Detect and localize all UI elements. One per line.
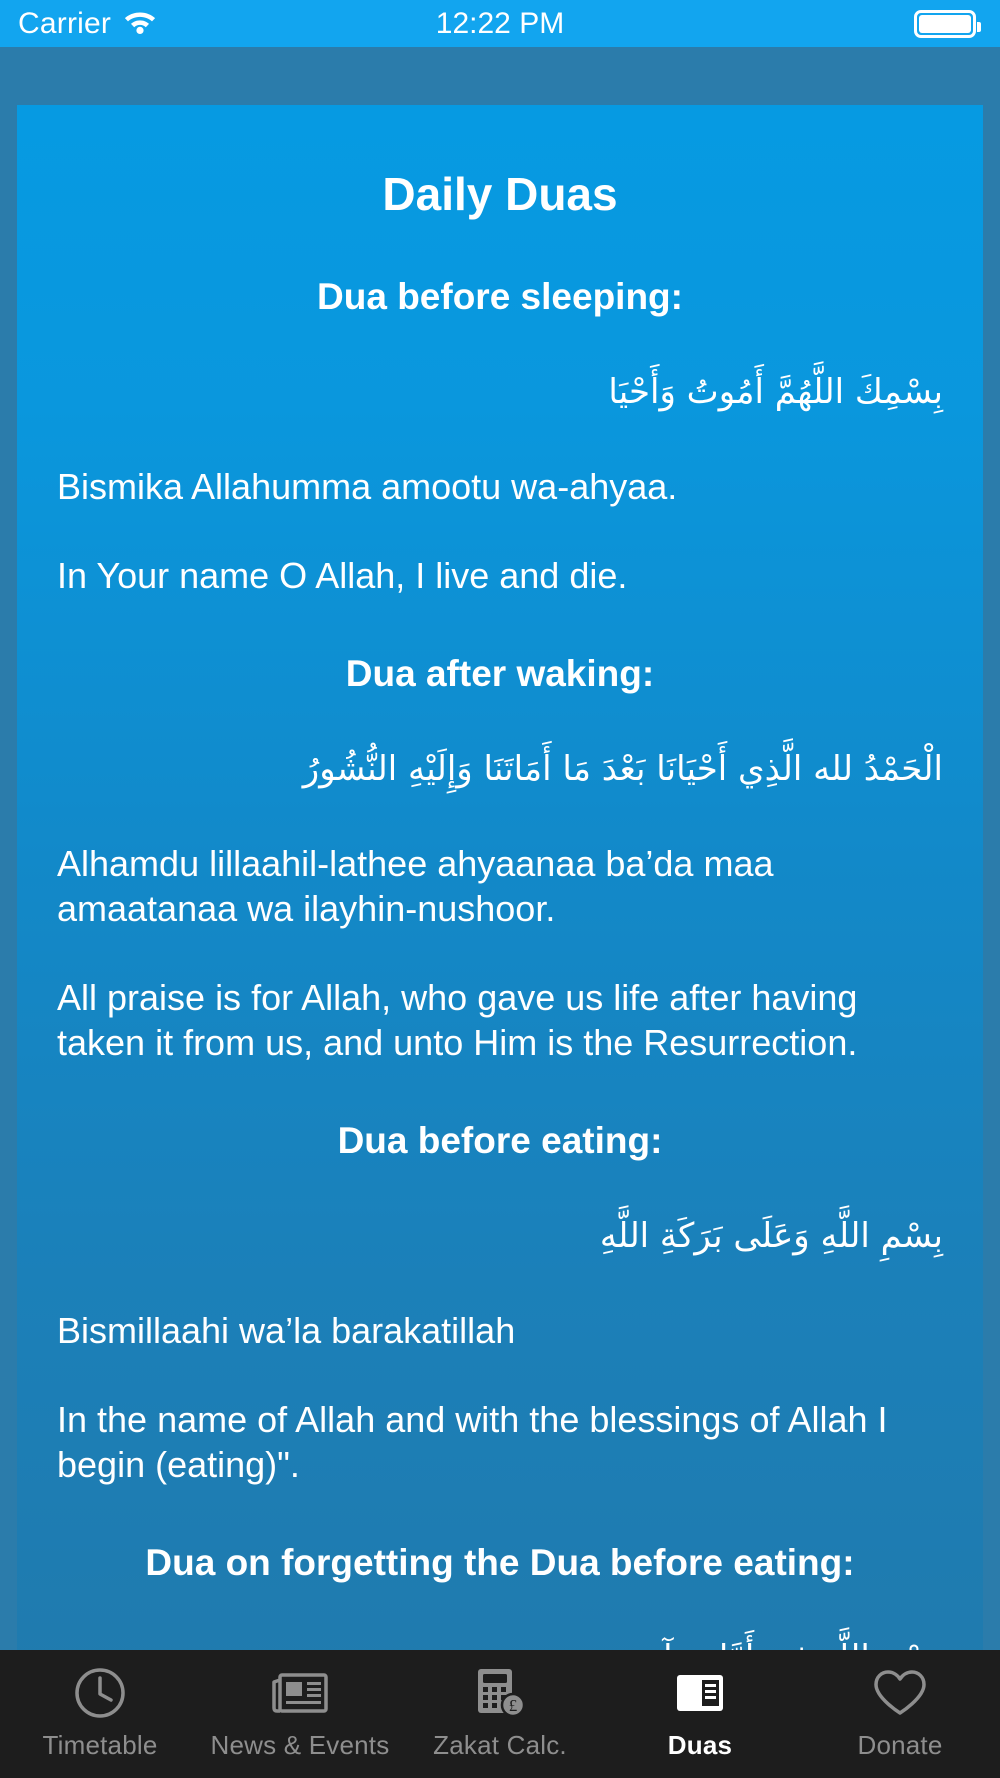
status-bar-right bbox=[682, 10, 982, 38]
wifi-icon bbox=[123, 7, 157, 40]
tab-bar: Timetable News & Events bbox=[0, 1650, 1000, 1778]
app-window: Carrier 12:22 PM Daily Duas Dua before s… bbox=[0, 0, 1000, 1778]
dua-transliteration: Bismillaahi wa’la barakatillah bbox=[57, 1308, 943, 1353]
dua-arabic: بِسْمِكَ اللَّهُمَّ أَمُوتُ وَأَحْيَا bbox=[57, 364, 943, 420]
clock-icon bbox=[73, 1664, 127, 1722]
dua-translation: All praise is for Allah, who gave us lif… bbox=[57, 975, 943, 1065]
duas-content: Daily Duas Dua before sleeping: بِسْمِكَ… bbox=[17, 167, 983, 1775]
tab-donate[interactable]: Donate bbox=[800, 1650, 1000, 1778]
status-bar-left: Carrier bbox=[18, 7, 318, 41]
tab-label: Zakat Calc. bbox=[433, 1730, 567, 1761]
dua-heading: Dua on forgetting the Dua before eating: bbox=[57, 1542, 943, 1584]
tab-label: Timetable bbox=[43, 1730, 158, 1761]
tab-news-and-events[interactable]: News & Events bbox=[200, 1650, 400, 1778]
calculator-pound-icon: £ bbox=[473, 1664, 527, 1722]
tab-zakat-calculator[interactable]: £ Zakat Calc. bbox=[400, 1650, 600, 1778]
dua-arabic: الْحَمْدُ لله الَّذِي أَحْيَانَا بَعْدَ … bbox=[57, 741, 943, 797]
tab-label: Donate bbox=[857, 1730, 942, 1761]
dua-arabic: بِسْمِ اللَّهِ وَعَلَى بَرَكَةِ اللَّهِ bbox=[57, 1208, 943, 1264]
heart-icon bbox=[871, 1664, 929, 1722]
dua-transliteration: Bismika Allahumma amootu wa-ahyaa. bbox=[57, 464, 943, 509]
dua-translation: In Your name O Allah, I live and die. bbox=[57, 553, 943, 598]
content-frame: Daily Duas Dua before sleeping: بِسْمِكَ… bbox=[0, 47, 1000, 1778]
dua-heading: Dua before eating: bbox=[57, 1120, 943, 1162]
tab-timetable[interactable]: Timetable bbox=[0, 1650, 200, 1778]
dua-translation: In the name of Allah and with the blessi… bbox=[57, 1397, 943, 1487]
book-page-icon bbox=[672, 1664, 728, 1722]
tab-label: News & Events bbox=[211, 1730, 390, 1761]
dua-heading: Dua after waking: bbox=[57, 653, 943, 695]
status-bar: Carrier 12:22 PM bbox=[0, 0, 1000, 47]
page-title: Daily Duas bbox=[57, 167, 943, 221]
carrier-label: Carrier bbox=[18, 7, 111, 41]
dua-section: Dua before eating: بِسْمِ اللَّهِ وَعَلَ… bbox=[57, 1120, 943, 1487]
dua-section: Dua before sleeping: بِسْمِكَ اللَّهُمَّ… bbox=[57, 276, 943, 598]
dua-transliteration: Alhamdu lillaahil-lathee ahyaanaa ba’da … bbox=[57, 841, 943, 931]
tab-duas[interactable]: Duas bbox=[600, 1650, 800, 1778]
battery-icon bbox=[914, 10, 976, 38]
status-bar-time: 12:22 PM bbox=[318, 7, 682, 41]
newspaper-icon bbox=[271, 1664, 329, 1722]
dua-section: Dua after waking: الْحَمْدُ لله الَّذِي … bbox=[57, 653, 943, 1065]
duas-scroll-view[interactable]: Daily Duas Dua before sleeping: بِسْمِكَ… bbox=[17, 105, 983, 1778]
svg-text:£: £ bbox=[509, 1696, 518, 1715]
tab-label: Duas bbox=[668, 1730, 732, 1761]
dua-heading: Dua before sleeping: bbox=[57, 276, 943, 318]
